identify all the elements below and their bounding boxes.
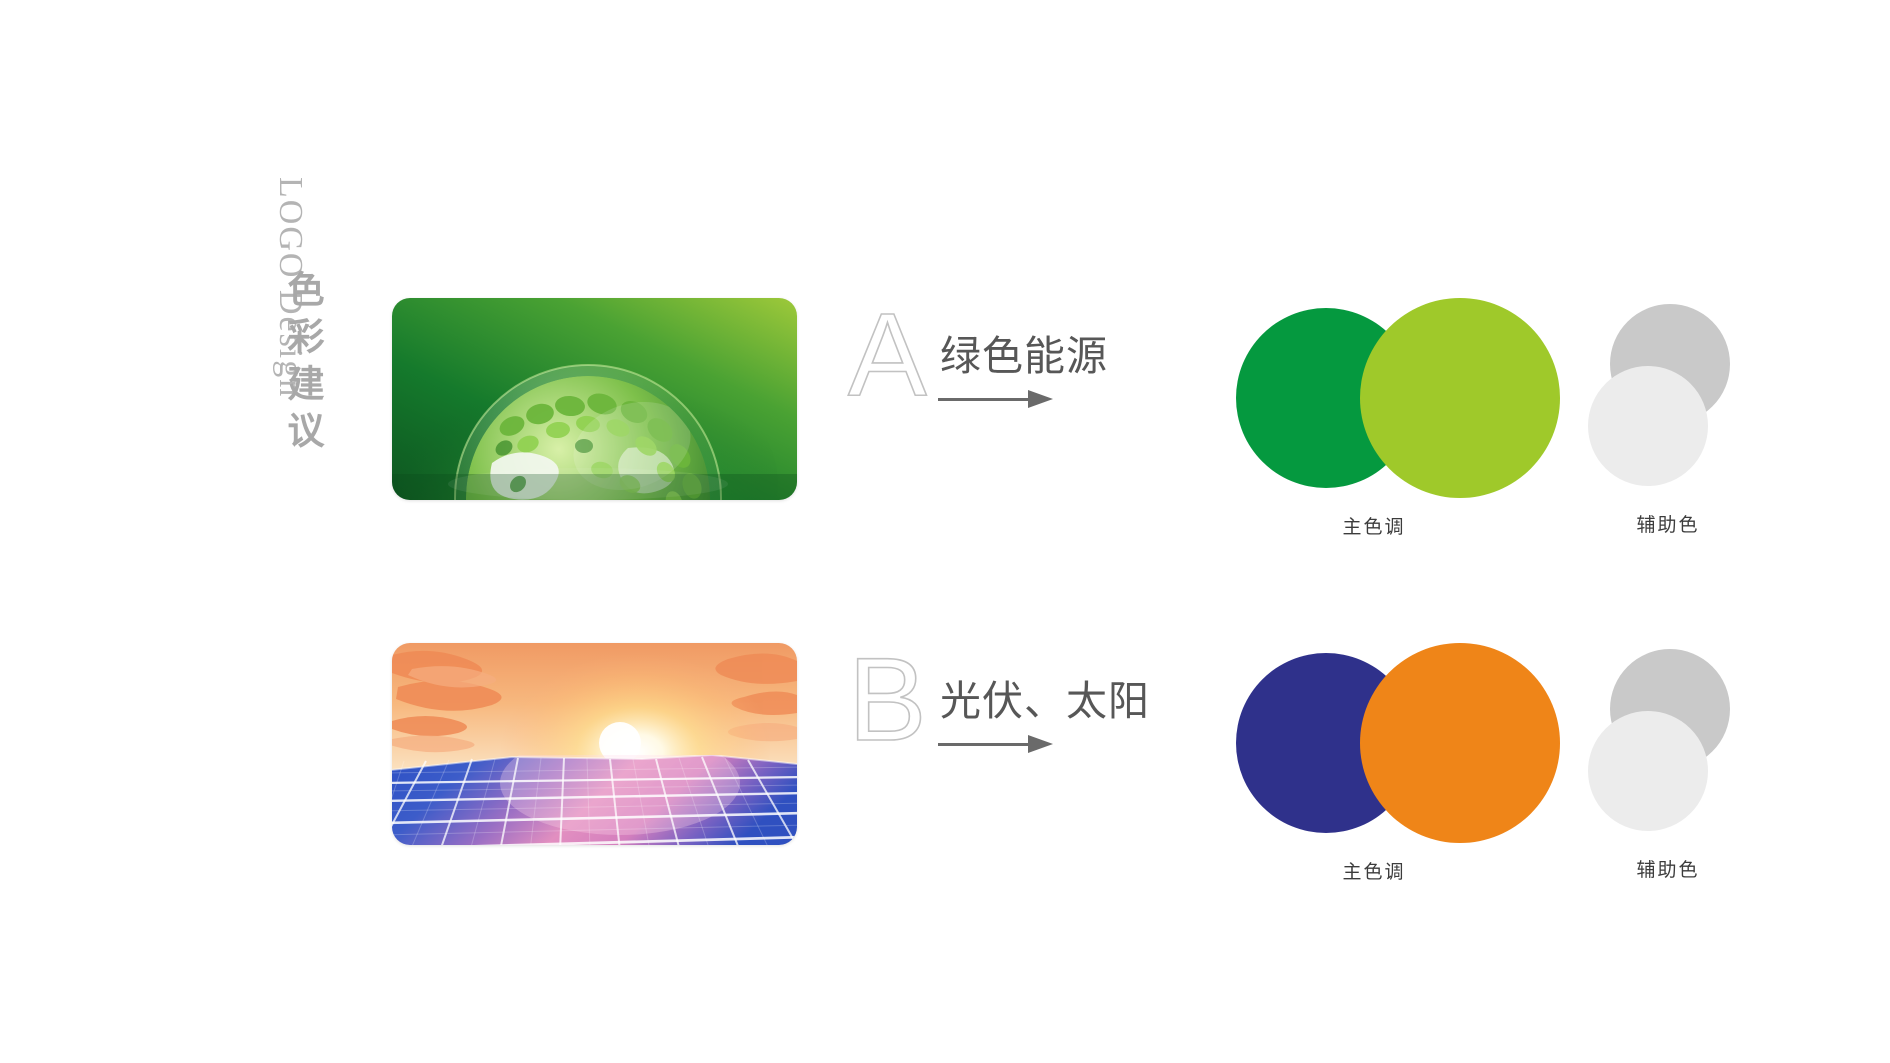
secondary-swatch-label-b: 辅助色 xyxy=(1578,855,1758,882)
arrow-shaft xyxy=(938,743,1032,746)
primary-swatch-front-b[interactable] xyxy=(1360,643,1560,843)
option-row-a: A 绿色能源 主色调 辅助色 xyxy=(0,270,1890,590)
thumbnail-solar-panel[interactable] xyxy=(392,643,797,845)
secondary-swatch-front-a[interactable] xyxy=(1588,366,1708,486)
primary-swatch-group-a: 主色调 xyxy=(1236,290,1526,540)
solar-panel-sunset-image xyxy=(392,643,797,845)
arrow-right-icon xyxy=(938,733,1056,757)
primary-swatch-group-b: 主色调 xyxy=(1236,635,1526,885)
secondary-swatch-group-a: 辅助色 xyxy=(1588,288,1768,538)
primary-swatch-label-a: 主色调 xyxy=(1224,512,1524,539)
option-letter-b: B xyxy=(848,641,927,759)
thumbnail-green-globe[interactable] xyxy=(392,298,797,500)
arrow-right-icon xyxy=(938,388,1056,412)
arrow-head xyxy=(1028,735,1053,753)
secondary-swatch-label-a: 辅助色 xyxy=(1578,510,1758,537)
option-caption-a: 绿色能源 xyxy=(940,322,1108,382)
arrow-head xyxy=(1028,390,1053,408)
primary-swatch-label-b: 主色调 xyxy=(1224,857,1524,884)
secondary-swatch-front-b[interactable] xyxy=(1588,711,1708,831)
option-letter-a: A xyxy=(848,296,927,414)
option-row-b: B 光伏、太阳 主色调 辅助色 xyxy=(0,615,1890,935)
secondary-swatch-group-b: 辅助色 xyxy=(1588,633,1768,883)
arrow-shaft xyxy=(938,398,1032,401)
option-caption-b: 光伏、太阳 xyxy=(940,667,1150,727)
primary-swatch-front-a[interactable] xyxy=(1360,298,1560,498)
green-globe-leaves-image xyxy=(392,298,797,500)
